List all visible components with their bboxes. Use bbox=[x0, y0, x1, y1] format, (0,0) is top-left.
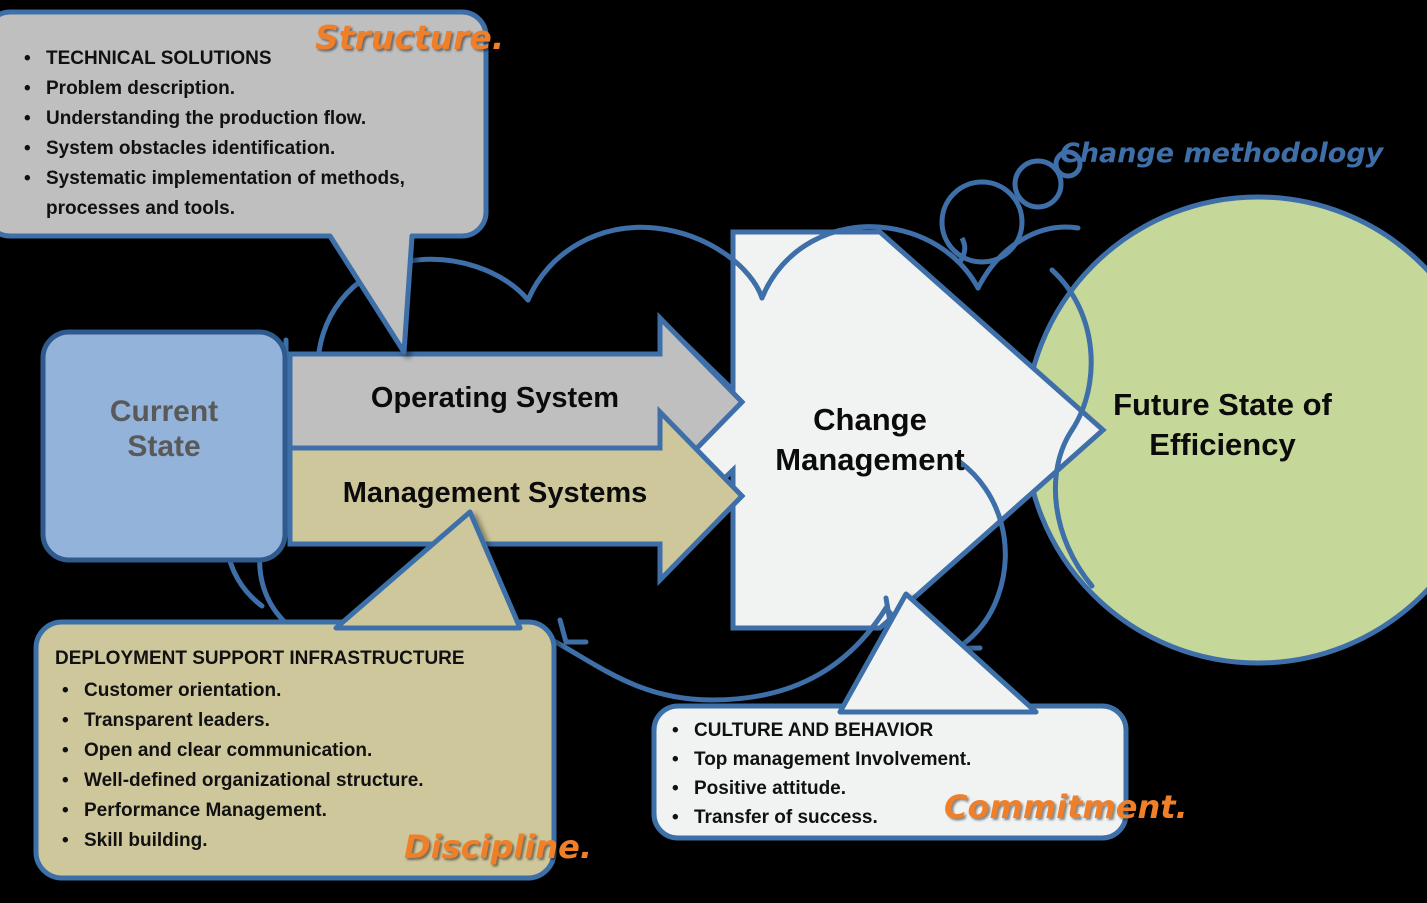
list-item: •CULTURE AND BEHAVIOR bbox=[672, 716, 1092, 745]
list-item: •Top management Involvement. bbox=[672, 745, 1092, 774]
diagram-canvas: Current State Operating System Managemen… bbox=[0, 0, 1427, 903]
commitment-accent-word: Commitment. bbox=[944, 788, 1188, 826]
bullet-icon: • bbox=[672, 745, 694, 774]
bullet-icon: • bbox=[672, 716, 694, 745]
bullet-icon: • bbox=[672, 803, 694, 832]
bullet-icon: • bbox=[672, 774, 694, 803]
commitment-callout-tail bbox=[840, 594, 1036, 712]
